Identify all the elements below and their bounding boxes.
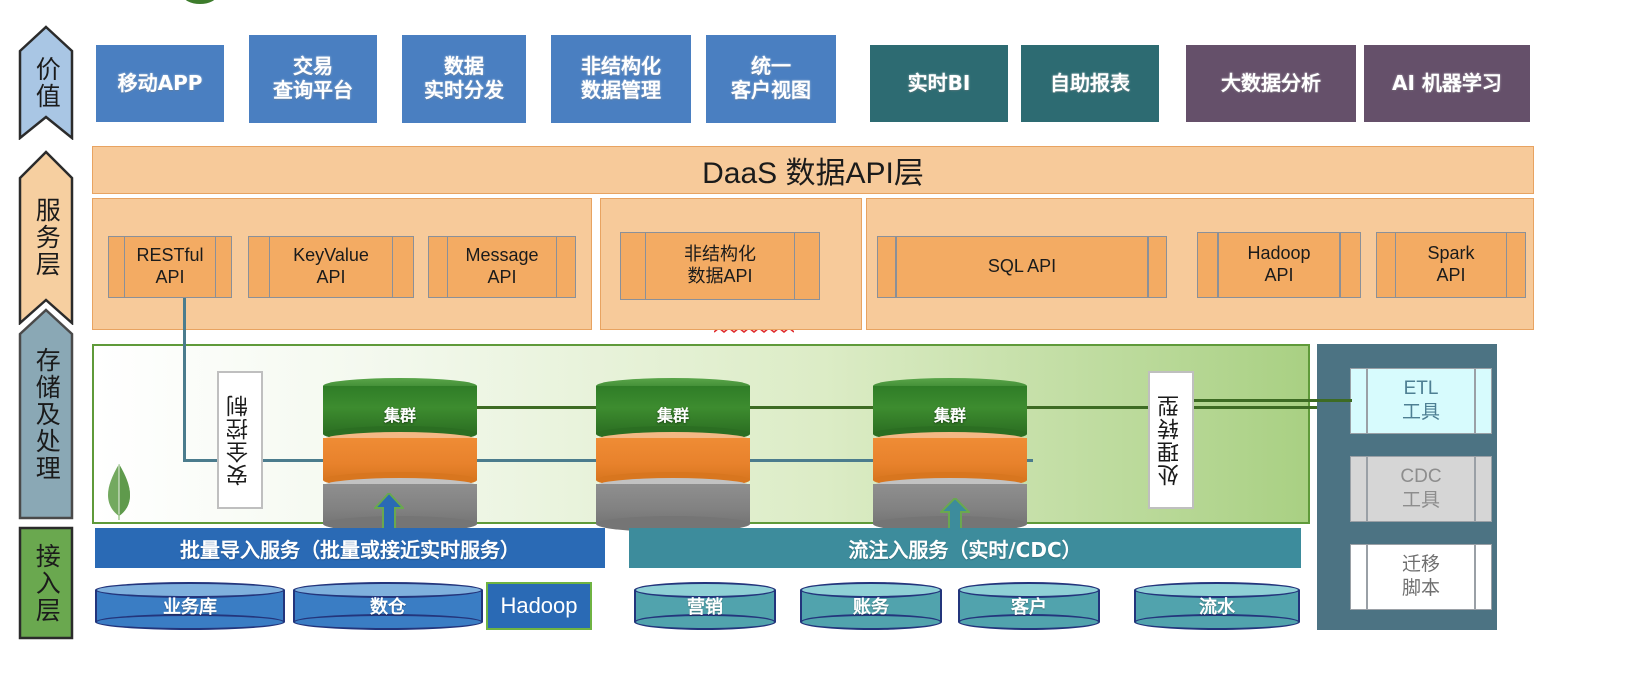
cluster-label: 集群	[873, 402, 1027, 426]
tool-cdc[interactable]: CDC 工具	[1350, 456, 1492, 522]
source-db-label: 客户	[958, 593, 1100, 619]
stream-ingest-service-label: 流注入服务（实时/CDC）	[848, 534, 1081, 563]
api-label: Spark API	[1427, 243, 1474, 286]
tool-label: CDC 工具	[1400, 465, 1441, 513]
value-card-label: 统一 客户视图	[731, 55, 811, 102]
cluster-stack-1: 集群	[323, 378, 477, 510]
rail-label-access: 接入层	[33, 543, 60, 624]
tool-migration-script[interactable]: 迁移 脚本	[1350, 544, 1492, 610]
api-box-hadoop[interactable]: Hadoop API	[1197, 232, 1361, 298]
source-db-label: 数仓	[293, 593, 483, 619]
api-label: RESTful API	[136, 245, 203, 288]
api-label: Message API	[465, 245, 538, 288]
api-label: Hadoop API	[1247, 243, 1310, 286]
tool-label: 迁移 脚本	[1402, 553, 1440, 601]
batch-import-service-bar[interactable]: 批量导入服务（批量或接近实时服务）	[95, 528, 605, 568]
source-hadoop-box[interactable]: Hadoop	[486, 582, 592, 630]
cluster-label: 集群	[596, 402, 750, 426]
value-card-label: 交易 查询平台	[273, 55, 353, 102]
arrow-up-batch-ingest	[374, 493, 404, 531]
api-label: SQL API	[988, 256, 1056, 278]
connector-restful-to-security	[183, 298, 186, 462]
rail-label-service: 服务层	[33, 197, 60, 278]
source-db-label: 账务	[800, 593, 942, 619]
daas-api-layer-bar: DaaS 数据API层	[92, 146, 1534, 194]
value-card-label: AI 机器学习	[1392, 72, 1502, 96]
api-box-restful[interactable]: RESTful API	[108, 236, 232, 298]
tool-etl[interactable]: ETL 工具	[1350, 368, 1492, 434]
value-card-label: 数据 实时分发	[424, 55, 504, 102]
cluster-stack-3: 集群	[873, 378, 1027, 510]
rail-item-storage: 存储及处理	[18, 308, 74, 520]
value-card-big-data-analytics[interactable]: 大数据分析	[1186, 45, 1356, 122]
process-transform-label: 处理转型	[1155, 394, 1187, 486]
api-label: KeyValue API	[293, 245, 369, 288]
value-card-unified-customer-view[interactable]: 统一 客户视图	[706, 35, 836, 123]
cluster-stack-2: 集群	[596, 378, 750, 510]
source-db-label: 营销	[634, 593, 776, 619]
value-card-self-service-report[interactable]: 自助报表	[1021, 45, 1159, 122]
source-db-business[interactable]: 业务库	[95, 582, 285, 630]
value-card-ai-machine-learning[interactable]: AI 机器学习	[1364, 45, 1530, 122]
source-db-datawarehouse[interactable]: 数仓	[293, 582, 483, 630]
value-card-unstructured-mgmt[interactable]: 非结构化 数据管理	[551, 35, 691, 123]
value-card-label: 移动APP	[118, 72, 203, 96]
value-card-trade-query[interactable]: 交易 查询平台	[249, 35, 377, 123]
value-card-label: 实时BI	[908, 72, 971, 96]
rail-item-value: 价值	[18, 25, 74, 140]
api-box-sql[interactable]: SQL API	[877, 236, 1167, 298]
cluster-tier-gray	[596, 478, 750, 530]
source-db-accounting[interactable]: 账务	[800, 582, 942, 630]
source-db-label: 流水	[1134, 593, 1300, 619]
value-card-mobile-app[interactable]: 移动APP	[96, 45, 224, 122]
value-card-label: 非结构化 数据管理	[581, 55, 661, 102]
source-db-customer[interactable]: 客户	[958, 582, 1100, 630]
api-box-message[interactable]: Message API	[428, 236, 576, 298]
mongodb-leaf-icon	[106, 462, 132, 520]
api-box-spark[interactable]: Spark API	[1376, 232, 1526, 298]
cluster-label: 集群	[323, 402, 477, 426]
batch-import-service-label: 批量导入服务（批量或接近实时服务）	[180, 534, 520, 563]
stream-ingest-service-bar[interactable]: 流注入服务（实时/CDC）	[629, 528, 1301, 568]
api-box-keyvalue[interactable]: KeyValue API	[248, 236, 414, 298]
source-db-label: 业务库	[95, 593, 285, 619]
value-card-label: 大数据分析	[1221, 72, 1321, 96]
rail-item-service: 服务层	[18, 150, 74, 325]
mongodb-logo-partial	[183, 0, 217, 4]
tool-label: ETL 工具	[1402, 377, 1440, 425]
api-label: 非结构化 数据API	[684, 244, 756, 287]
value-card-label: 自助报表	[1050, 72, 1130, 96]
api-box-unstructured-data[interactable]: 非结构化 数据API	[620, 232, 820, 300]
process-transform-box: 处理转型	[1148, 371, 1194, 509]
rail-item-access: 接入层	[18, 526, 74, 640]
architecture-diagram: 价值 服务层 存储及处理 接入层 移动APP 交易 查询平台 数据 实时分发 非…	[0, 0, 1626, 700]
security-control-label: 安全控制	[224, 394, 256, 486]
source-hadoop-label: Hadoop	[500, 593, 577, 619]
source-db-marketing[interactable]: 营销	[634, 582, 776, 630]
rail-label-value: 价值	[33, 56, 60, 110]
connector-transform-to-etl	[1194, 399, 1352, 402]
source-db-transaction-flow[interactable]: 流水	[1134, 582, 1300, 630]
arrow-up-stream-ingest	[940, 498, 970, 532]
security-control-box: 安全控制	[217, 371, 263, 509]
rail-label-storage: 存储及处理	[33, 347, 60, 482]
daas-api-layer-title: DaaS 数据API层	[702, 148, 924, 192]
value-card-realtime-dispatch[interactable]: 数据 实时分发	[402, 35, 526, 123]
value-card-realtime-bi[interactable]: 实时BI	[870, 45, 1008, 122]
